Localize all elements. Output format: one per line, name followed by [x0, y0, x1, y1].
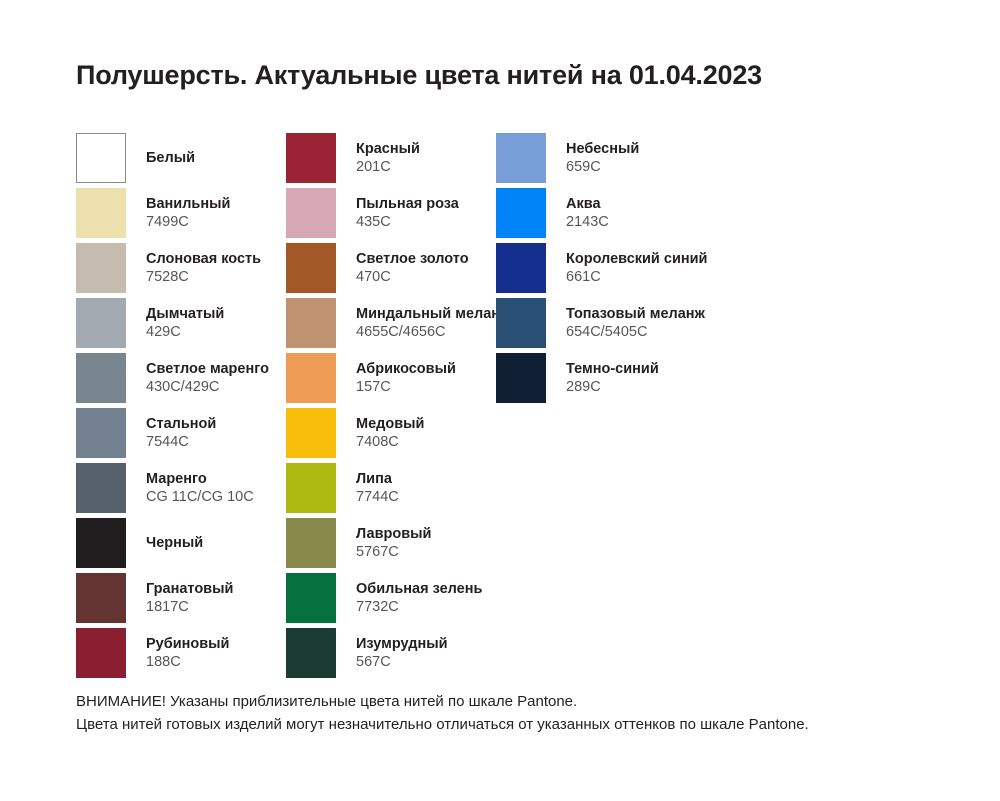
swatch-row[interactable]: Светлое золото470C	[286, 243, 496, 293]
color-name: Дымчатый	[146, 306, 224, 322]
color-chip[interactable]	[286, 408, 336, 458]
color-name: Лавровый	[356, 526, 431, 542]
color-chip[interactable]	[286, 573, 336, 623]
color-name: Аква	[566, 196, 609, 212]
color-name: Гранатовый	[146, 581, 233, 597]
pantone-code: 429C	[146, 324, 224, 340]
color-chip[interactable]	[496, 133, 546, 183]
color-name: Обильная зелень	[356, 581, 482, 597]
color-name: Пыльная роза	[356, 196, 459, 212]
swatch-row[interactable]: Лавровый5767C	[286, 518, 496, 568]
color-chip[interactable]	[76, 628, 126, 678]
color-name: Рубиновый	[146, 636, 229, 652]
color-chip[interactable]	[76, 573, 126, 623]
color-chip[interactable]	[76, 188, 126, 238]
swatch-row[interactable]: Изумрудный567C	[286, 628, 496, 678]
pantone-code: 7544C	[146, 434, 216, 450]
swatch-labels: Светлое маренго430C/429C	[146, 353, 269, 403]
color-name: Черный	[146, 535, 203, 551]
color-name: Светлое маренго	[146, 361, 269, 377]
swatch-row[interactable]: Абрикосовый157C	[286, 353, 496, 403]
pantone-code: 567C	[356, 654, 448, 670]
swatch-labels: Небесный659C	[566, 133, 639, 183]
color-chip[interactable]	[286, 188, 336, 238]
pantone-code: 157C	[356, 379, 456, 395]
pantone-code: 435C	[356, 214, 459, 230]
color-name: Королевский синий	[566, 251, 707, 267]
pantone-code: 430C/429C	[146, 379, 269, 395]
swatch-labels: Обильная зелень7732C	[356, 573, 482, 623]
pantone-code: 654C/5405C	[566, 324, 705, 340]
footer-line-2: Цвета нитей готовых изделий могут незнач…	[76, 713, 809, 736]
color-chip[interactable]	[286, 628, 336, 678]
swatch-row[interactable]: Гранатовый1817C	[76, 573, 286, 623]
swatch-labels: Липа7744C	[356, 463, 399, 513]
swatch-row[interactable]: Слоновая кость7528C	[76, 243, 286, 293]
swatch-labels: Абрикосовый157C	[356, 353, 456, 403]
color-chip[interactable]	[76, 408, 126, 458]
swatch-labels: Светлое золото470C	[356, 243, 469, 293]
pantone-code: CG 11C/CG 10C	[146, 489, 254, 505]
color-name: Небесный	[566, 141, 639, 157]
swatch-row[interactable]: МаренгоCG 11C/CG 10C	[76, 463, 286, 513]
swatch-labels: Темно-синий289C	[566, 353, 659, 403]
swatch-labels: Пыльная роза435C	[356, 188, 459, 238]
color-name: Липа	[356, 471, 399, 487]
color-name: Слоновая кость	[146, 251, 261, 267]
swatch-row[interactable]: Обильная зелень7732C	[286, 573, 496, 623]
swatch-row[interactable]: Красный201C	[286, 133, 496, 183]
color-name: Медовый	[356, 416, 424, 432]
swatch-labels: Черный	[146, 518, 203, 568]
pantone-code: 470C	[356, 269, 469, 285]
color-name: Ванильный	[146, 196, 230, 212]
color-chip[interactable]	[76, 518, 126, 568]
color-chip[interactable]	[496, 243, 546, 293]
swatch-labels: Рубиновый188C	[146, 628, 229, 678]
color-name: Темно-синий	[566, 361, 659, 377]
color-chip[interactable]	[286, 353, 336, 403]
color-name: Белый	[146, 150, 195, 166]
footer-note: ВНИМАНИЕ! Указаны приблизительные цвета …	[76, 690, 809, 737]
swatch-labels: Лавровый5767C	[356, 518, 431, 568]
pantone-code: 659C	[566, 159, 639, 175]
pantone-code: 7408C	[356, 434, 424, 450]
pantone-code: 201C	[356, 159, 420, 175]
swatch-labels: Медовый7408C	[356, 408, 424, 458]
swatch-labels: Гранатовый1817C	[146, 573, 233, 623]
color-chip[interactable]	[496, 298, 546, 348]
pantone-code: 7499C	[146, 214, 230, 230]
color-chip[interactable]	[286, 133, 336, 183]
pantone-code: 5767C	[356, 544, 431, 560]
swatch-labels: Слоновая кость7528C	[146, 243, 261, 293]
color-name: Красный	[356, 141, 420, 157]
color-name: Светлое золото	[356, 251, 469, 267]
color-name: Абрикосовый	[356, 361, 456, 377]
color-chip[interactable]	[76, 243, 126, 293]
swatch-labels: Стальной7544C	[146, 408, 216, 458]
pantone-code: 7732C	[356, 599, 482, 615]
swatch-row[interactable]: Светлое маренго430C/429C	[76, 353, 286, 403]
swatch-row[interactable]: Топазовый меланж654C/5405C	[496, 298, 756, 348]
color-chip[interactable]	[496, 188, 546, 238]
swatch-labels: Изумрудный567C	[356, 628, 448, 678]
page-title: Полушерсть. Актуальные цвета нитей на 01…	[76, 60, 762, 91]
pantone-code: 2143C	[566, 214, 609, 230]
color-chip[interactable]	[76, 298, 126, 348]
color-name: Миндальный меланж	[356, 306, 510, 322]
swatch-labels: Белый	[146, 133, 195, 183]
color-name: Топазовый меланж	[566, 306, 705, 322]
color-chip[interactable]	[286, 463, 336, 513]
swatch-row[interactable]: Темно-синий289C	[496, 353, 756, 403]
pantone-code: 188C	[146, 654, 229, 670]
swatch-column-2: Красный201CПыльная роза435CСветлое золот…	[286, 133, 496, 678]
swatch-row[interactable]: Черный	[76, 518, 286, 568]
swatch-labels: Миндальный меланж4655C/4656C	[356, 298, 510, 348]
swatch-row[interactable]: Королевский синий661C	[496, 243, 756, 293]
swatch-row[interactable]: Миндальный меланж4655C/4656C	[286, 298, 496, 348]
swatch-row[interactable]: Рубиновый188C	[76, 628, 286, 678]
swatch-row[interactable]: Ванильный7499C	[76, 188, 286, 238]
swatch-column-1: БелыйВанильный7499CСлоновая кость7528CДы…	[76, 133, 286, 678]
swatch-row[interactable]: Пыльная роза435C	[286, 188, 496, 238]
swatch-row[interactable]: Стальной7544C	[76, 408, 286, 458]
color-chip[interactable]	[286, 298, 336, 348]
swatch-row[interactable]: Медовый7408C	[286, 408, 496, 458]
swatch-labels: МаренгоCG 11C/CG 10C	[146, 463, 254, 513]
pantone-code: 7744C	[356, 489, 399, 505]
swatch-row[interactable]: Аква2143C	[496, 188, 756, 238]
swatch-labels: Аква2143C	[566, 188, 609, 238]
color-name: Изумрудный	[356, 636, 448, 652]
color-chart-page: Полушерсть. Актуальные цвета нитей на 01…	[0, 0, 1000, 801]
color-chip[interactable]	[496, 353, 546, 403]
swatch-row[interactable]: Дымчатый429C	[76, 298, 286, 348]
swatch-labels: Дымчатый429C	[146, 298, 224, 348]
swatch-column-3: Небесный659CАква2143CКоролевский синий66…	[496, 133, 756, 678]
swatch-row[interactable]: Белый	[76, 133, 286, 183]
swatch-row[interactable]: Небесный659C	[496, 133, 756, 183]
pantone-code: 661C	[566, 269, 707, 285]
swatch-labels: Красный201C	[356, 133, 420, 183]
color-chip[interactable]	[286, 243, 336, 293]
swatch-columns: БелыйВанильный7499CСлоновая кость7528CДы…	[76, 133, 956, 678]
pantone-code: 289C	[566, 379, 659, 395]
pantone-code: 1817C	[146, 599, 233, 615]
color-chip[interactable]	[286, 518, 336, 568]
pantone-code: 4655C/4656C	[356, 324, 510, 340]
swatch-row[interactable]: Липа7744C	[286, 463, 496, 513]
color-name: Стальной	[146, 416, 216, 432]
swatch-labels: Топазовый меланж654C/5405C	[566, 298, 705, 348]
swatch-labels: Ванильный7499C	[146, 188, 230, 238]
pantone-code: 7528C	[146, 269, 261, 285]
color-chip[interactable]	[76, 133, 126, 183]
color-chip[interactable]	[76, 353, 126, 403]
footer-line-1: ВНИМАНИЕ! Указаны приблизительные цвета …	[76, 690, 809, 713]
swatch-labels: Королевский синий661C	[566, 243, 707, 293]
color-chip[interactable]	[76, 463, 126, 513]
color-name: Маренго	[146, 471, 254, 487]
